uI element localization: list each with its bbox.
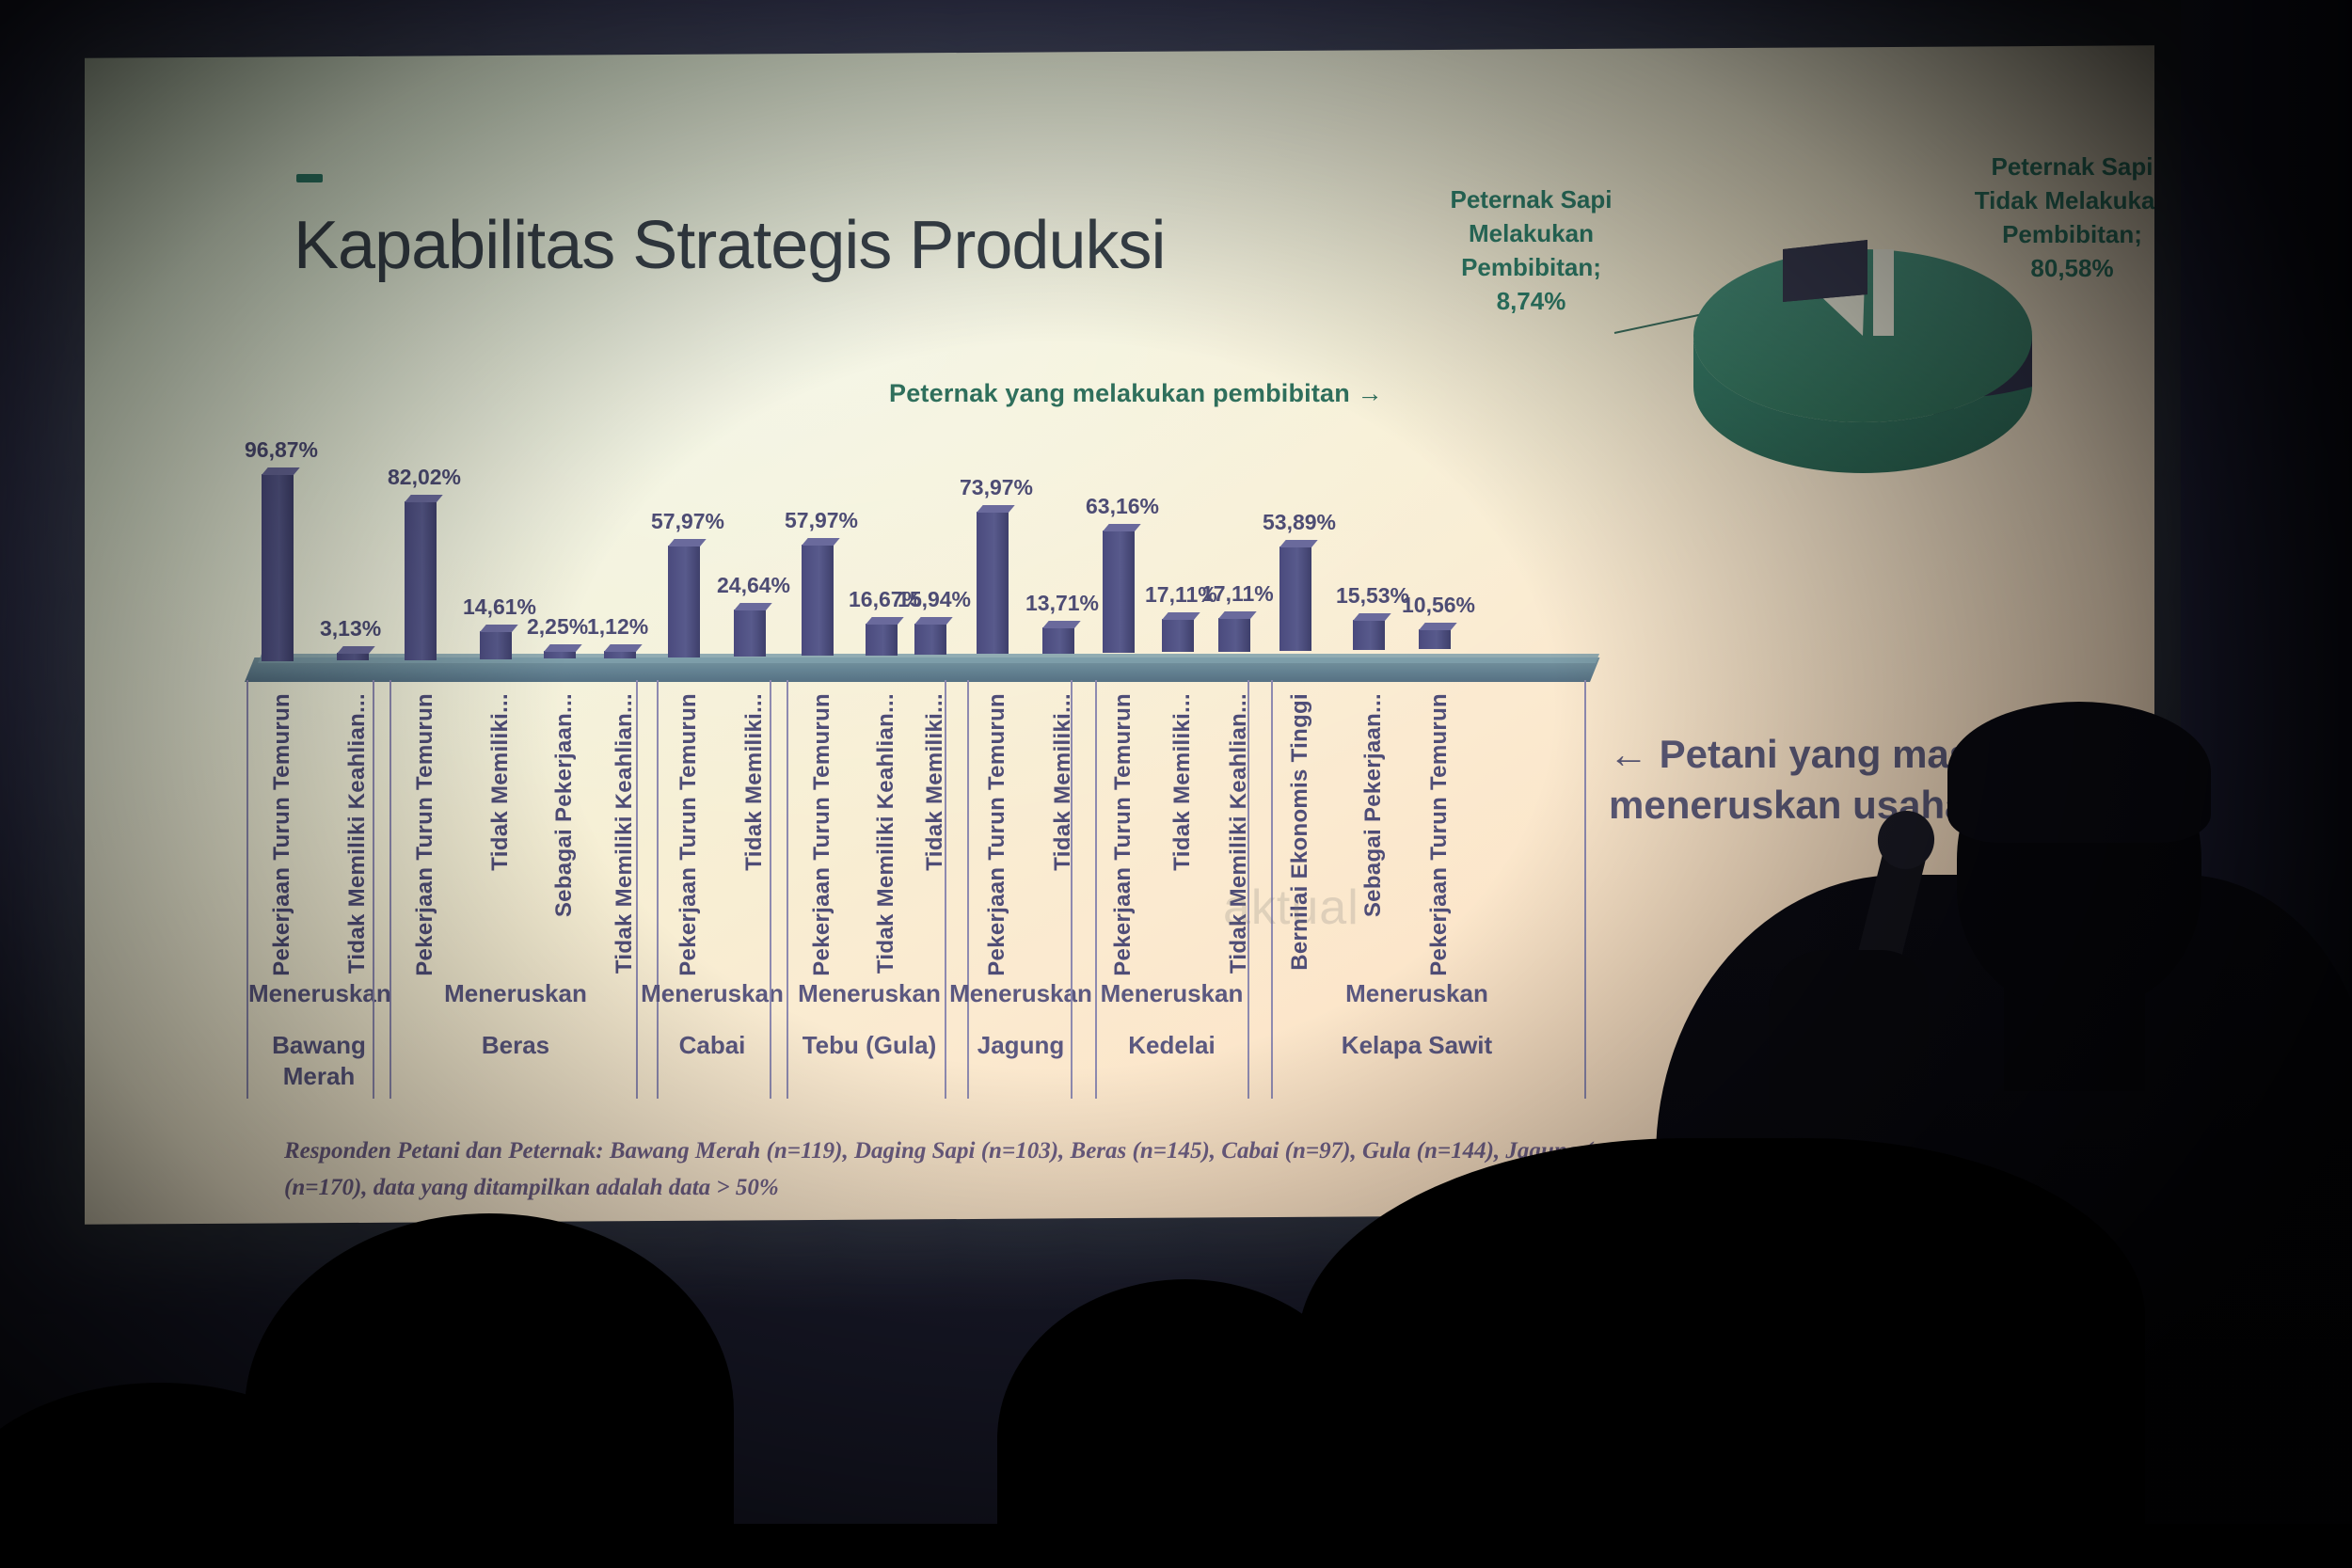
bar-value-label: 24,64%	[717, 573, 790, 598]
bar	[262, 474, 294, 661]
farmer-annotation-line1: ← Petani yang masi	[1609, 729, 1982, 780]
bar	[1162, 619, 1194, 652]
bar	[544, 651, 576, 658]
bar-value-label: 10,56%	[1402, 593, 1475, 618]
bar-value-label: 13,71%	[1025, 591, 1099, 616]
axis-group-label-bottom: Beras	[374, 1030, 657, 1061]
audience-head-2	[245, 1213, 734, 1568]
axis-tick-label: Tidak Memiliki...	[1050, 693, 1076, 871]
bar-value-label: 1,12%	[587, 614, 648, 640]
axis-tick-label-wrap: Tidak Memiliki...	[741, 680, 770, 962]
axis-tick-label: Pekerjaan Turun Temurun	[809, 693, 835, 976]
axis-tick-label: Tidak Memiliki...	[487, 693, 514, 871]
pie-annotation: Peternak yang melakukan pembibitan →	[889, 379, 1383, 408]
bar	[977, 512, 1009, 655]
bar	[668, 546, 700, 657]
axis-tick-label-wrap: Pekerjaan Turun Temurun	[1110, 680, 1138, 962]
axis-tick-label-wrap: Tidak Memiliki...	[922, 680, 950, 962]
axis-tick-label-wrap: Pekerjaan Turun Temurun	[984, 680, 1012, 962]
bar-value-label: 15,53%	[1336, 583, 1409, 609]
pie-label-left-text: Peternak Sapi Melakukan Pembibitan;	[1451, 185, 1613, 281]
foreground-darkness	[0, 1524, 2352, 1568]
axis-group-label-top: Meneruskan	[248, 979, 389, 1008]
axis-tick-label: Tidak Memiliki...	[922, 693, 948, 871]
speaker-hand	[1769, 950, 1929, 1138]
bar	[480, 631, 512, 659]
axis-tick-label: Tidak Memiliki...	[1169, 693, 1196, 871]
axis-group-label-top: Meneruskan	[771, 979, 967, 1008]
axis-group-label-top: Meneruskan	[374, 979, 657, 1008]
slide-title: Kapabilitas Strategis Produksi	[294, 207, 1166, 284]
bar-value-label: 3,13%	[320, 616, 381, 641]
axis-tick-label-wrap: Tidak Memiliki Keahlian...	[344, 680, 373, 962]
axis-tick-label: Sebagai Pekerjaan...	[1360, 693, 1387, 917]
axis-tick-label-wrap: Pekerjaan Turun Temurun	[412, 680, 440, 962]
bar-value-label: 57,97%	[785, 508, 858, 533]
axis-tick-label: Tidak Memiliki Keahlian...	[612, 693, 638, 974]
bar-value-label: 63,16%	[1086, 494, 1159, 519]
axis-group-label-top: Meneruskan	[1073, 979, 1271, 1008]
axis-tick-label: Tidak Memiliki Keahlian...	[344, 693, 371, 974]
photo-of-presentation: Kapabilitas Strategis Produksi Peternak …	[0, 0, 2352, 1568]
axis-tick-label: Pekerjaan Turun Temurun	[412, 693, 438, 976]
axis-tick-label-wrap: Pekerjaan Turun Temurun	[1426, 680, 1454, 962]
bar	[734, 610, 766, 657]
bar	[337, 653, 369, 660]
bar-value-label: 73,97%	[960, 475, 1033, 500]
axis-tick-label-wrap: Tidak Memiliki...	[1169, 680, 1198, 962]
axis-label-table: MeneruskanBawang MerahMeneruskanBerasMen…	[246, 680, 1620, 1099]
bar	[1103, 531, 1135, 652]
bar-value-label: 96,87%	[245, 437, 318, 463]
axis-tick-label: Tidak Memiliki Keahlian...	[873, 693, 899, 974]
axis-tick-label: Pekerjaan Turun Temurun	[984, 693, 1010, 976]
axis-tick-label-wrap: Sebagai Pekerjaan...	[551, 680, 580, 962]
pie-3d-graphic	[1642, 212, 2131, 503]
bar	[405, 501, 437, 659]
axis-tick-label: Pekerjaan Turun Temurun	[1110, 693, 1136, 976]
bar-value-label: 15,94%	[898, 587, 971, 612]
axis-tick-label: Pekerjaan Turun Temurun	[675, 693, 702, 976]
bar-value-label: 17,11%	[1201, 581, 1274, 607]
bar-value-label: 82,02%	[388, 465, 461, 490]
axis-group-label-top: Meneruskan	[1249, 979, 1584, 1008]
axis-tick-label-wrap: Pekerjaan Turun Temurun	[269, 680, 297, 962]
chart-base-top	[258, 654, 1599, 663]
bar	[1218, 618, 1250, 651]
axis-tick-label-wrap: Tidak Memiliki...	[487, 680, 516, 962]
speaker-hair	[1947, 702, 2211, 843]
bar-chart: 96,87%3,13%82,02%14,61%2,25%1,12%57,97%2…	[245, 428, 1656, 682]
bar	[802, 545, 834, 657]
bar	[1279, 546, 1311, 650]
axis-tick-label: Pekerjaan Turun Temurun	[1426, 693, 1453, 976]
bar	[1353, 620, 1385, 650]
axis-group-label-bottom: Tebu (Gula)	[771, 1030, 967, 1061]
axis-group-label-top: Meneruskan	[638, 979, 787, 1008]
farmer-annotation: ← Petani yang masi meneruskan usaha	[1609, 729, 1982, 831]
axis-tick-label: Tidak Memiliki...	[741, 693, 768, 871]
bar	[1042, 627, 1074, 654]
bar-value-label: 2,25%	[527, 614, 588, 640]
axis-tick-label-wrap: Pekerjaan Turun Temurun	[809, 680, 837, 962]
bar	[914, 624, 946, 655]
axis-tick-label: Sebagai Pekerjaan...	[551, 693, 578, 917]
axis-tick-label: Pekerjaan Turun Temurun	[269, 693, 295, 976]
axis-tick-label-wrap: Tidak Memiliki Keahlian...	[873, 680, 901, 962]
audience-head-4	[1298, 1138, 2145, 1568]
axis-group-label-bottom: Cabai	[638, 1030, 787, 1061]
axis-tick-label-wrap: Tidak Memiliki Keahlian...	[612, 680, 640, 962]
watermark: aktual	[1223, 879, 1359, 936]
bar	[866, 624, 898, 656]
axis-group-label-bottom: Kedelai	[1073, 1030, 1271, 1061]
axis-tick-label-wrap: Sebagai Pekerjaan...	[1360, 680, 1389, 962]
title-accent-dash	[296, 174, 323, 182]
bar	[1419, 629, 1451, 650]
axis-tick-label-wrap: Tidak Memiliki...	[1050, 680, 1078, 962]
pie-label-left-value: 8,74%	[1497, 287, 1566, 315]
axis-tick-label-wrap: Pekerjaan Turun Temurun	[675, 680, 704, 962]
axis-group-label-bottom: Bawang Merah	[248, 1030, 389, 1091]
bar	[604, 651, 636, 658]
bar-value-label: 53,89%	[1263, 510, 1336, 535]
axis-group-label-bottom: Kelapa Sawit	[1249, 1030, 1584, 1061]
bar-value-label: 14,61%	[463, 594, 536, 620]
bar-value-label: 57,97%	[651, 509, 724, 534]
pie-label-left: Peternak Sapi Melakukan Pembibitan; 8,74…	[1430, 183, 1632, 319]
